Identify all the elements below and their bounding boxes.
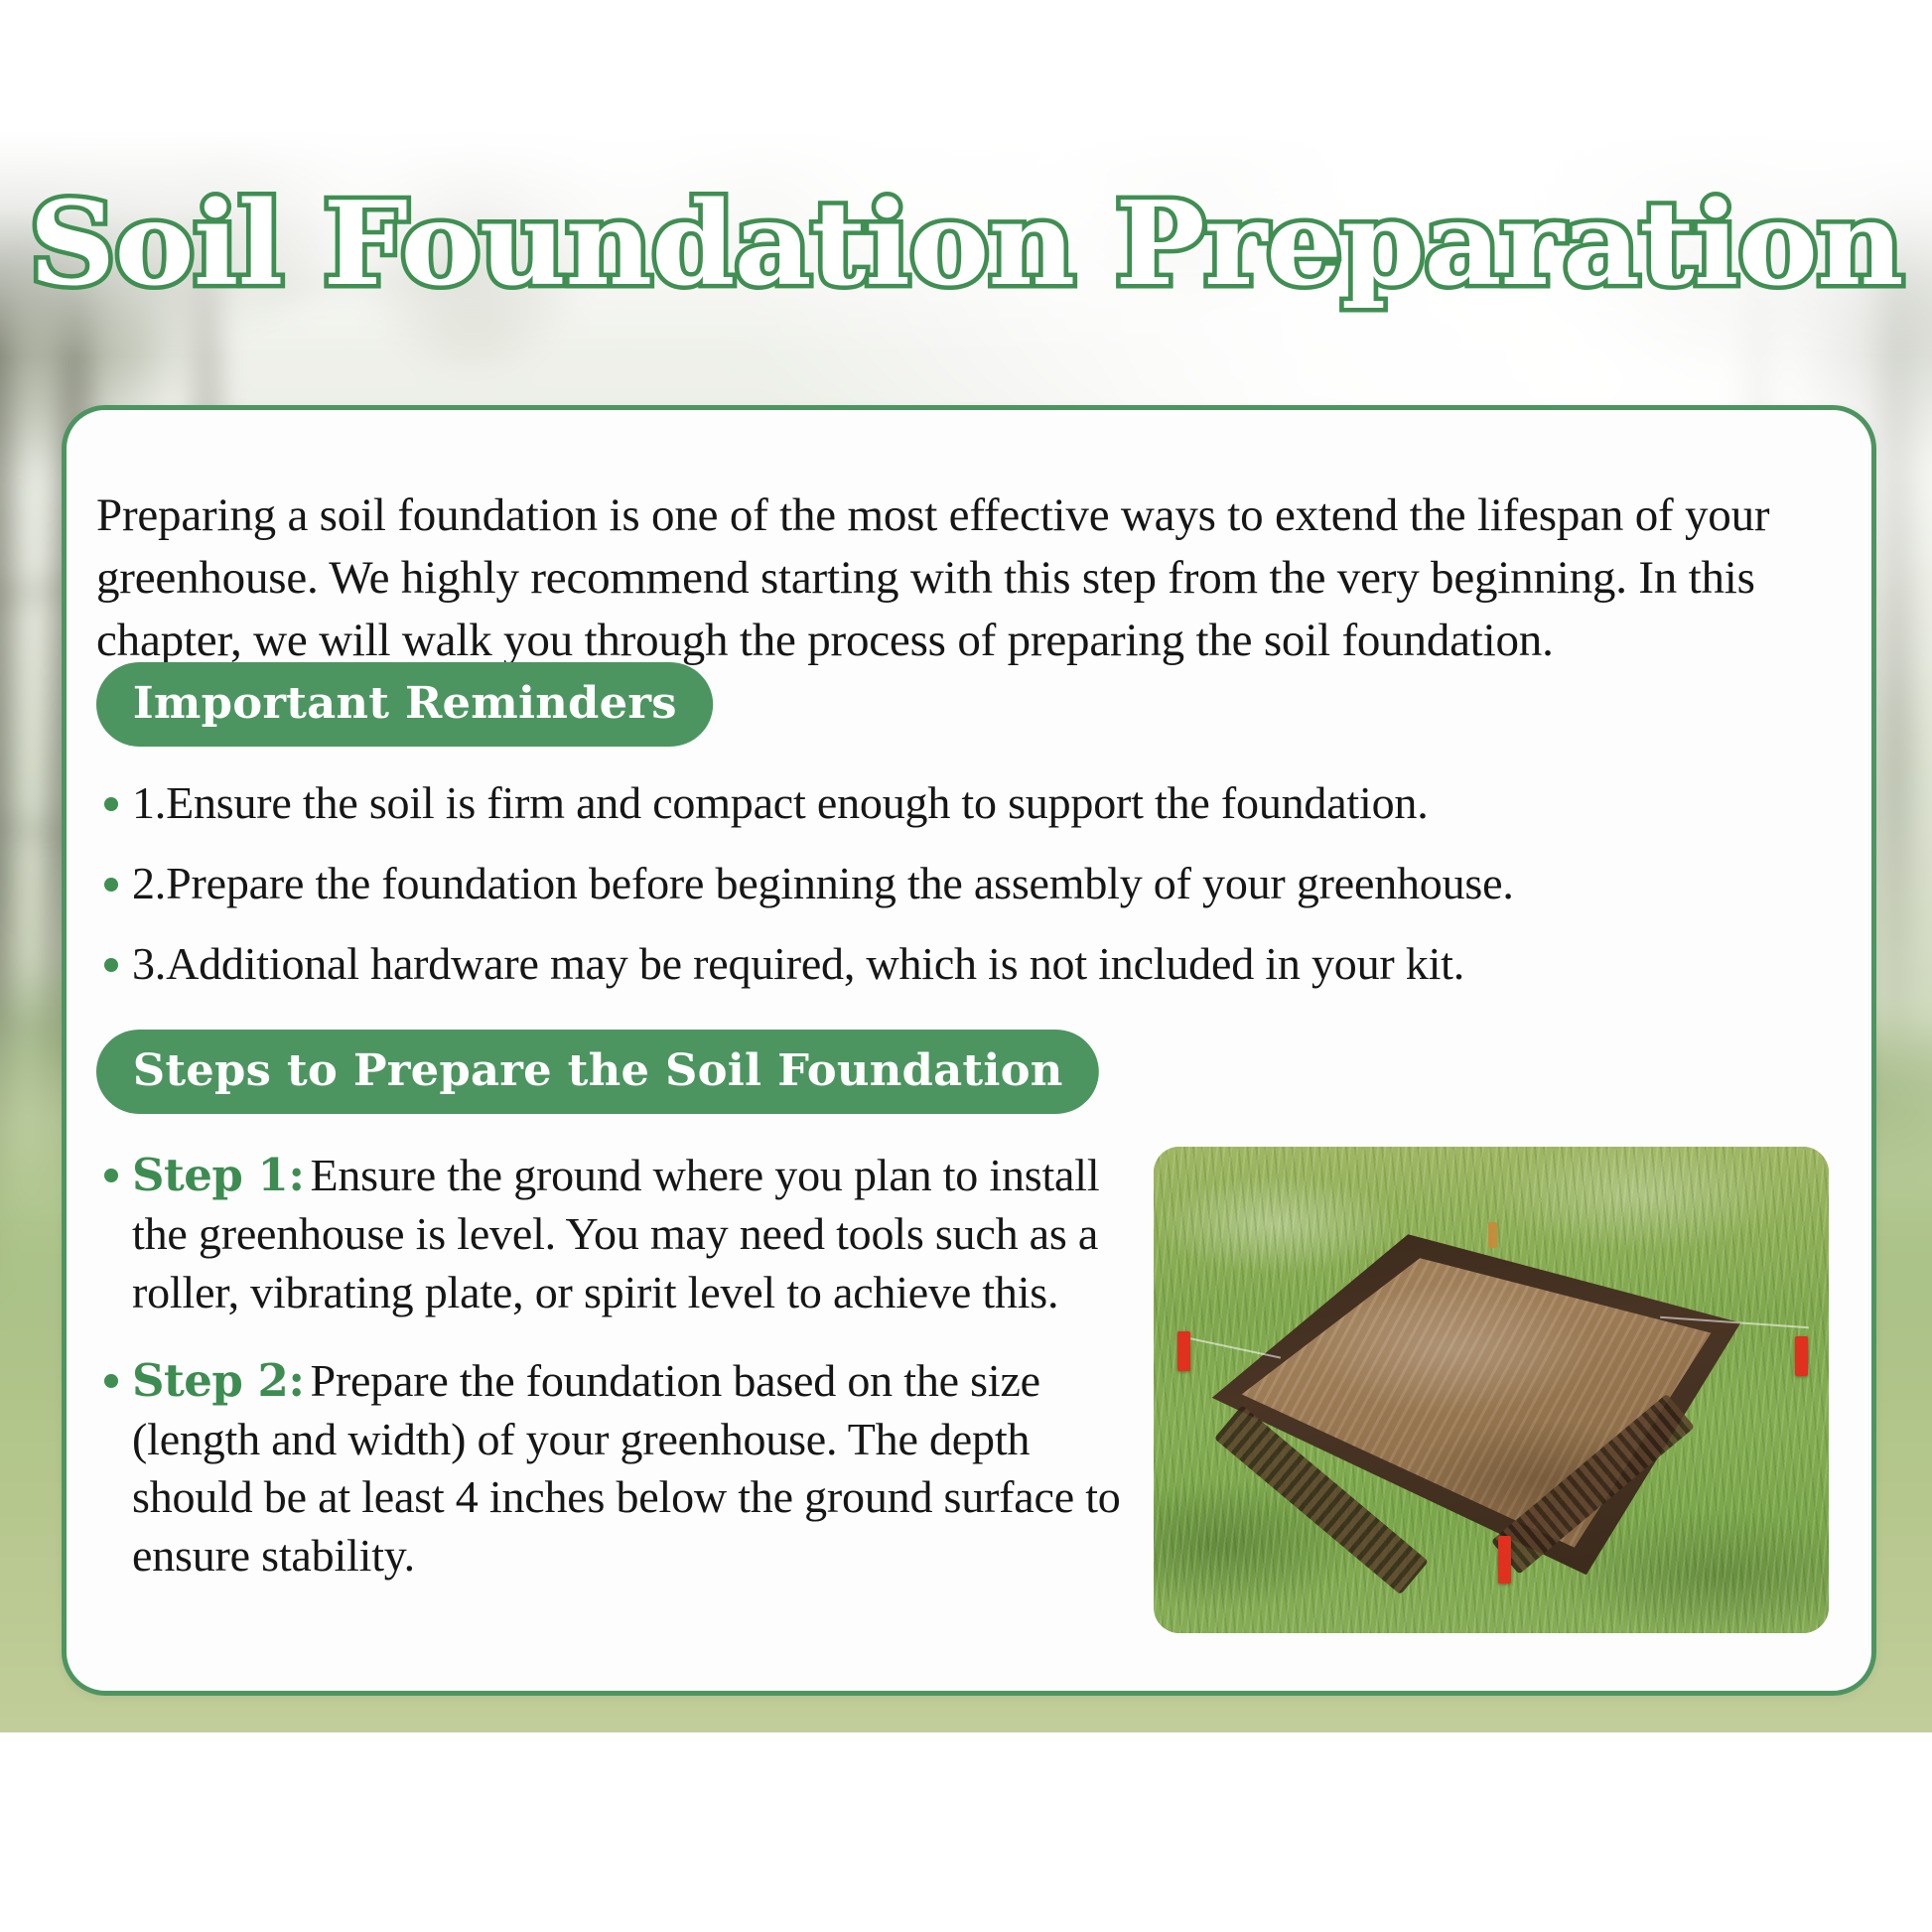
reminders-list: 1.Ensure the soil is firm and compact en… (102, 775, 1830, 1018)
list-item: 2.Prepare the foundation before beginnin… (102, 856, 1830, 910)
marker-flag-icon (1177, 1331, 1190, 1371)
list-item: 3.Additional hardware may be required, w… (102, 936, 1830, 991)
reminder-text: 3.Additional hardware may be required, w… (132, 938, 1464, 989)
list-item: Step 1:Ensure the ground where you plan … (102, 1147, 1155, 1322)
steps-list: Step 1:Ensure the ground where you plan … (102, 1147, 1155, 1615)
list-item: 1.Ensure the soil is firm and compact en… (102, 775, 1830, 830)
page-title: Soil Foundation Preparation (0, 187, 1932, 302)
intro-paragraph: Preparing a soil foundation is one of th… (96, 484, 1844, 672)
reminder-text: 2.Prepare the foundation before beginnin… (132, 858, 1514, 908)
poster-page: Soil Foundation Preparation Preparing a … (0, 0, 1932, 1932)
step-label: Step 2: (132, 1354, 304, 1407)
marker-flag-icon (1795, 1336, 1808, 1376)
marker-stake-icon (1488, 1222, 1497, 1248)
list-item: Step 2:Prepare the foundation based on t… (102, 1352, 1155, 1587)
steps-heading: Steps to Prepare the Soil Foundation (96, 1030, 1099, 1114)
content-card: Preparing a soil foundation is one of th… (62, 405, 1876, 1696)
step-label: Step 1: (132, 1149, 304, 1201)
reminder-text: 1.Ensure the soil is firm and compact en… (132, 777, 1429, 828)
foundation-excavation-photo (1154, 1147, 1829, 1633)
important-reminders-heading: Important Reminders (96, 662, 713, 747)
marker-flag-icon (1498, 1536, 1511, 1584)
